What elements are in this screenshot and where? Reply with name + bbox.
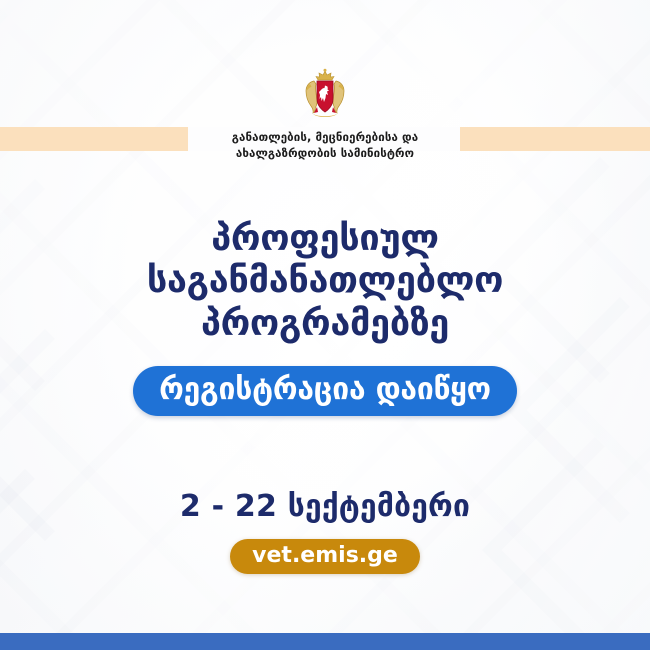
ministry-name: განათლების, მეცნიერებისა და ახალგაზრდობი… — [232, 130, 418, 162]
poster-canvas: განათლების, მეცნიერებისა და ახალგაზრდობი… — [0, 0, 650, 650]
bottom-accent-bar — [0, 633, 650, 650]
headline-block: პროფესიულ საგანმანათლებლო პროგრამებზე — [0, 218, 650, 345]
headline-line-2: საგანმანათლებლო — [0, 260, 650, 302]
cta-container: რეგისტრაცია დაიწყო — [0, 366, 650, 416]
registration-started-badge[interactable]: რეგისტრაცია დაიწყო — [133, 366, 517, 416]
georgia-coat-of-arms-emblem-icon — [301, 68, 349, 124]
ministry-name-line-1: განათლების, მეცნიერებისა და — [232, 130, 418, 146]
ministry-name-line-2: ახალგაზრდობის სამინისტრო — [232, 146, 418, 162]
header-block: განათლების, მეცნიერებისა და ახალგაზრდობი… — [0, 68, 650, 162]
website-url-badge[interactable]: vet.emis.ge — [230, 539, 420, 574]
url-container: vet.emis.ge — [0, 539, 650, 574]
headline-line-3: პროგრამებზე — [0, 303, 650, 345]
headline-line-1: პროფესიულ — [0, 218, 650, 260]
date-range-text: 2 - 22 სექტემბერი — [0, 489, 650, 524]
